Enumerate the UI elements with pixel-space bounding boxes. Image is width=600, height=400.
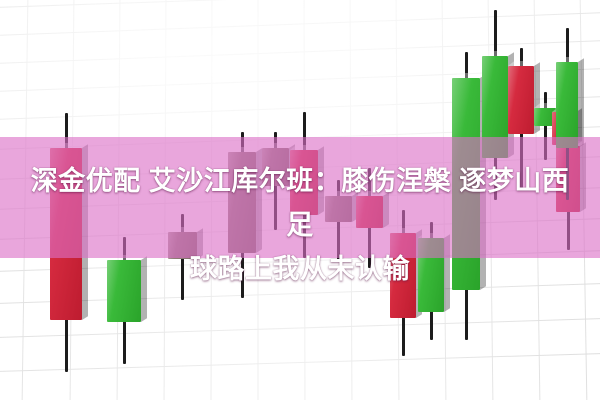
candle-body [508,66,534,134]
headline-line-1: 深金优配 艾沙江库尔班：膝伤涅槃 逐梦山西 足 [31,166,570,240]
candlestick-chart-image: 深金优配 艾沙江库尔班：膝伤涅槃 逐梦山西 足球路上我从未认输 [0,0,600,400]
candle-body [556,62,578,148]
headline-text: 深金优配 艾沙江库尔班：膝伤涅槃 逐梦山西 足球路上我从未认输 [0,159,600,291]
headline-line-2: 球路上我从未认输 [190,254,410,284]
candle-body-sheen [508,66,534,134]
candle-body-sheen [556,62,578,148]
